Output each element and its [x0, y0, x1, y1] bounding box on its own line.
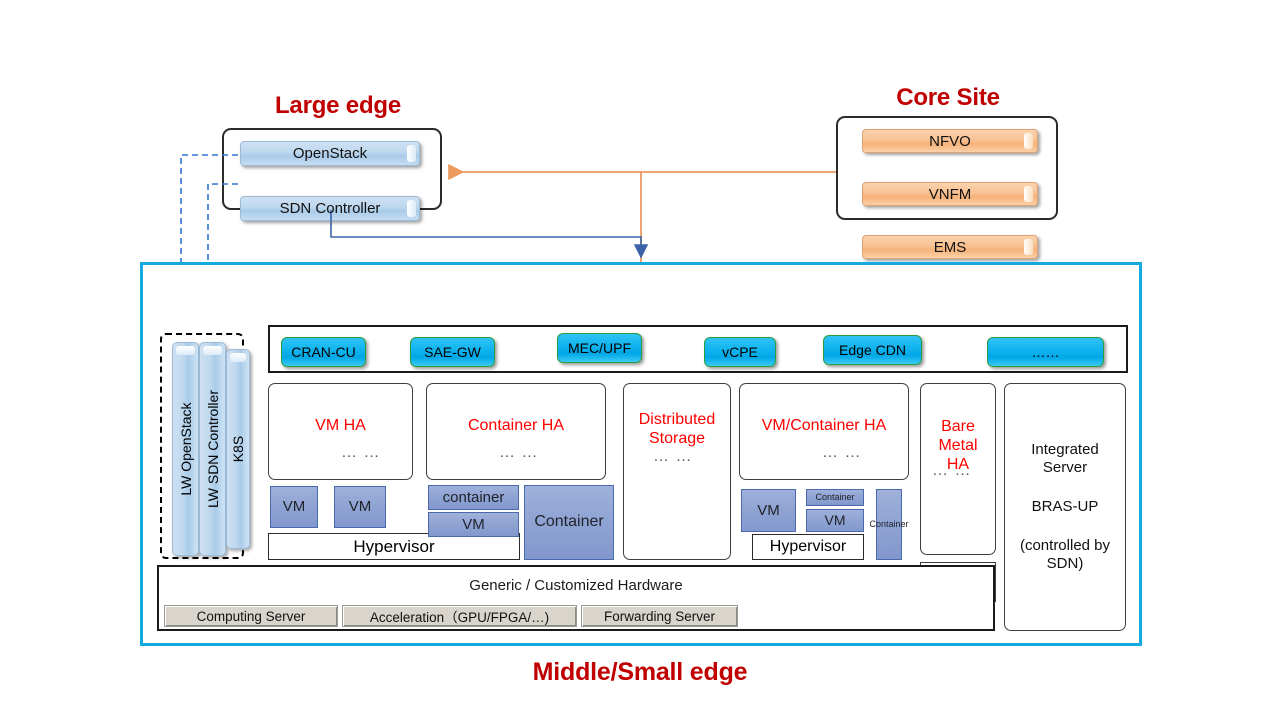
large-edge-item-sdn-controller[interactable]: SDN Controller — [240, 196, 420, 221]
service-badge-label: MEC/UPF — [568, 340, 631, 356]
service-badge-cran-cu[interactable]: CRAN-CU — [281, 337, 366, 367]
service-badge-label: Edge CDN — [839, 342, 906, 358]
bare-metal-ha-title-line2: Metal — [921, 436, 995, 455]
large-edge-item-openstack[interactable]: OpenStack — [240, 141, 420, 166]
bare-metal-ha-title-line1: Bare — [921, 417, 995, 436]
integrated-server-card: Integrated Server BRAS-UP (controlled by… — [1004, 383, 1126, 631]
service-badge-label: vCPE — [722, 344, 758, 360]
vm-block-label: VM — [757, 503, 780, 519]
vm-ha-vm-block-1[interactable]: VM — [270, 486, 318, 528]
lw-pillar-label: K8S — [230, 436, 246, 462]
vm-ha-title: VM HA — [269, 416, 412, 435]
vm-container-ha-hypervisor: Hypervisor — [752, 534, 864, 560]
vm-container-ha-card: VM/Container HA … … — [739, 383, 909, 480]
hardware-button-computing-server[interactable]: Computing Server — [164, 605, 338, 627]
hypervisor-label: Hypervisor — [770, 538, 846, 556]
vm-container-ha-vm-small[interactable]: VM — [806, 509, 864, 532]
container-ha-dots: … … — [499, 444, 538, 462]
core-site-panel: NFVO VNFM EMS — [836, 116, 1058, 220]
service-badge-vcpe[interactable]: vCPE — [704, 337, 776, 367]
lw-pillar-label: LW SDN Controller — [205, 390, 221, 508]
lw-controller-box: LW OpenStack LW SDN Controller K8S — [160, 333, 244, 559]
hardware-button-label: Acceleration（GPU/FPGA/…) — [370, 606, 549, 626]
hardware-button-forwarding-server[interactable]: Forwarding Server — [581, 605, 738, 627]
vm-ha-vm-block-2[interactable]: VM — [334, 486, 386, 528]
container-small-label: container — [443, 490, 505, 506]
service-badge-more[interactable]: …… — [987, 337, 1104, 367]
vm-container-ha-vm-block[interactable]: VM — [741, 489, 796, 532]
container-ha-container-small[interactable]: container — [428, 485, 519, 510]
container-ha-title: Container HA — [427, 416, 605, 435]
distributed-storage-card: Distributed Storage … … — [623, 383, 731, 560]
vm-container-ha-dots: … … — [822, 444, 861, 462]
distributed-storage-title-line2: Storage — [624, 429, 730, 448]
hardware-button-acceleration[interactable]: Acceleration（GPU/FPGA/…) — [342, 605, 577, 627]
distributed-storage-dots: … … — [653, 448, 692, 466]
core-site-item-ems[interactable]: EMS — [862, 235, 1038, 259]
service-badge-sae-gw[interactable]: SAE-GW — [410, 337, 495, 367]
container-ha-vm-small[interactable]: VM — [428, 512, 519, 537]
vm-block-label: VM — [349, 499, 372, 515]
integrated-server-line2: Server — [1011, 459, 1119, 477]
lw-pillar-sdn-controller[interactable]: LW SDN Controller — [199, 342, 226, 556]
core-site-item-vnfm[interactable]: VNFM — [862, 182, 1038, 206]
vm-container-ha-container-tall[interactable]: Container — [876, 489, 902, 560]
vm-block-label: VM — [283, 499, 306, 515]
vm-small-label: VM — [825, 513, 846, 528]
vm-ha-dots: … … — [341, 444, 380, 462]
vm-small-label: VM — [462, 517, 485, 533]
service-badge-label: …… — [1032, 344, 1060, 360]
core-site-item-label: EMS — [934, 239, 967, 256]
distributed-storage-title-line1: Distributed — [624, 410, 730, 429]
page-title-large-edge: Large edge — [222, 92, 454, 120]
hardware-box: Generic / Customized Hardware Computing … — [157, 565, 995, 631]
lw-pillar-openstack[interactable]: LW OpenStack — [172, 342, 199, 556]
lw-pillar-label: LW OpenStack — [178, 402, 194, 495]
large-edge-item-label: SDN Controller — [280, 200, 381, 217]
container-tall-label: Container — [869, 520, 908, 529]
page-title-middle-small-edge: Middle/Small edge — [440, 658, 840, 687]
large-edge-item-label: OpenStack — [293, 145, 367, 162]
core-site-item-nfvo[interactable]: NFVO — [862, 129, 1038, 153]
service-badge-mec-upf[interactable]: MEC/UPF — [557, 333, 642, 363]
integrated-server-line3: BRAS-UP — [1011, 498, 1119, 516]
hardware-button-label: Forwarding Server — [604, 609, 715, 624]
container-ha-card: Container HA … … — [426, 383, 606, 480]
core-site-item-label: NFVO — [929, 133, 971, 150]
vm-container-ha-title: VM/Container HA — [740, 416, 908, 435]
hardware-title: Generic / Customized Hardware — [159, 577, 993, 594]
page-title-core-site: Core Site — [836, 84, 1060, 112]
vm-ha-hypervisor: Hypervisor — [268, 533, 520, 560]
service-badge-row: CRAN-CU SAE-GW MEC/UPF vCPE Edge CDN …… — [268, 325, 1128, 373]
integrated-server-line4: (controlled by — [1011, 537, 1119, 555]
lw-pillar-k8s[interactable]: K8S — [226, 349, 250, 549]
hardware-button-label: Computing Server — [197, 609, 306, 624]
container-small-label: Container — [815, 493, 854, 502]
integrated-server-line1: Integrated — [1011, 441, 1119, 459]
hypervisor-label: Hypervisor — [353, 537, 434, 557]
container-ha-container-big[interactable]: Container — [524, 485, 614, 560]
vm-ha-card: VM HA … … — [268, 383, 413, 480]
service-badge-label: SAE-GW — [424, 344, 481, 360]
container-big-label: Container — [534, 514, 603, 531]
vm-container-ha-container-small[interactable]: Container — [806, 489, 864, 506]
bare-metal-ha-card: Bare Metal HA … … — [920, 383, 996, 555]
large-edge-panel: OpenStack SDN Controller — [222, 128, 442, 210]
core-site-item-label: VNFM — [929, 186, 972, 203]
service-badge-label: CRAN-CU — [291, 344, 356, 360]
integrated-server-line5: SDN) — [1011, 555, 1119, 573]
service-badge-edge-cdn[interactable]: Edge CDN — [823, 335, 922, 365]
bare-metal-ha-dots: … … — [932, 462, 971, 480]
